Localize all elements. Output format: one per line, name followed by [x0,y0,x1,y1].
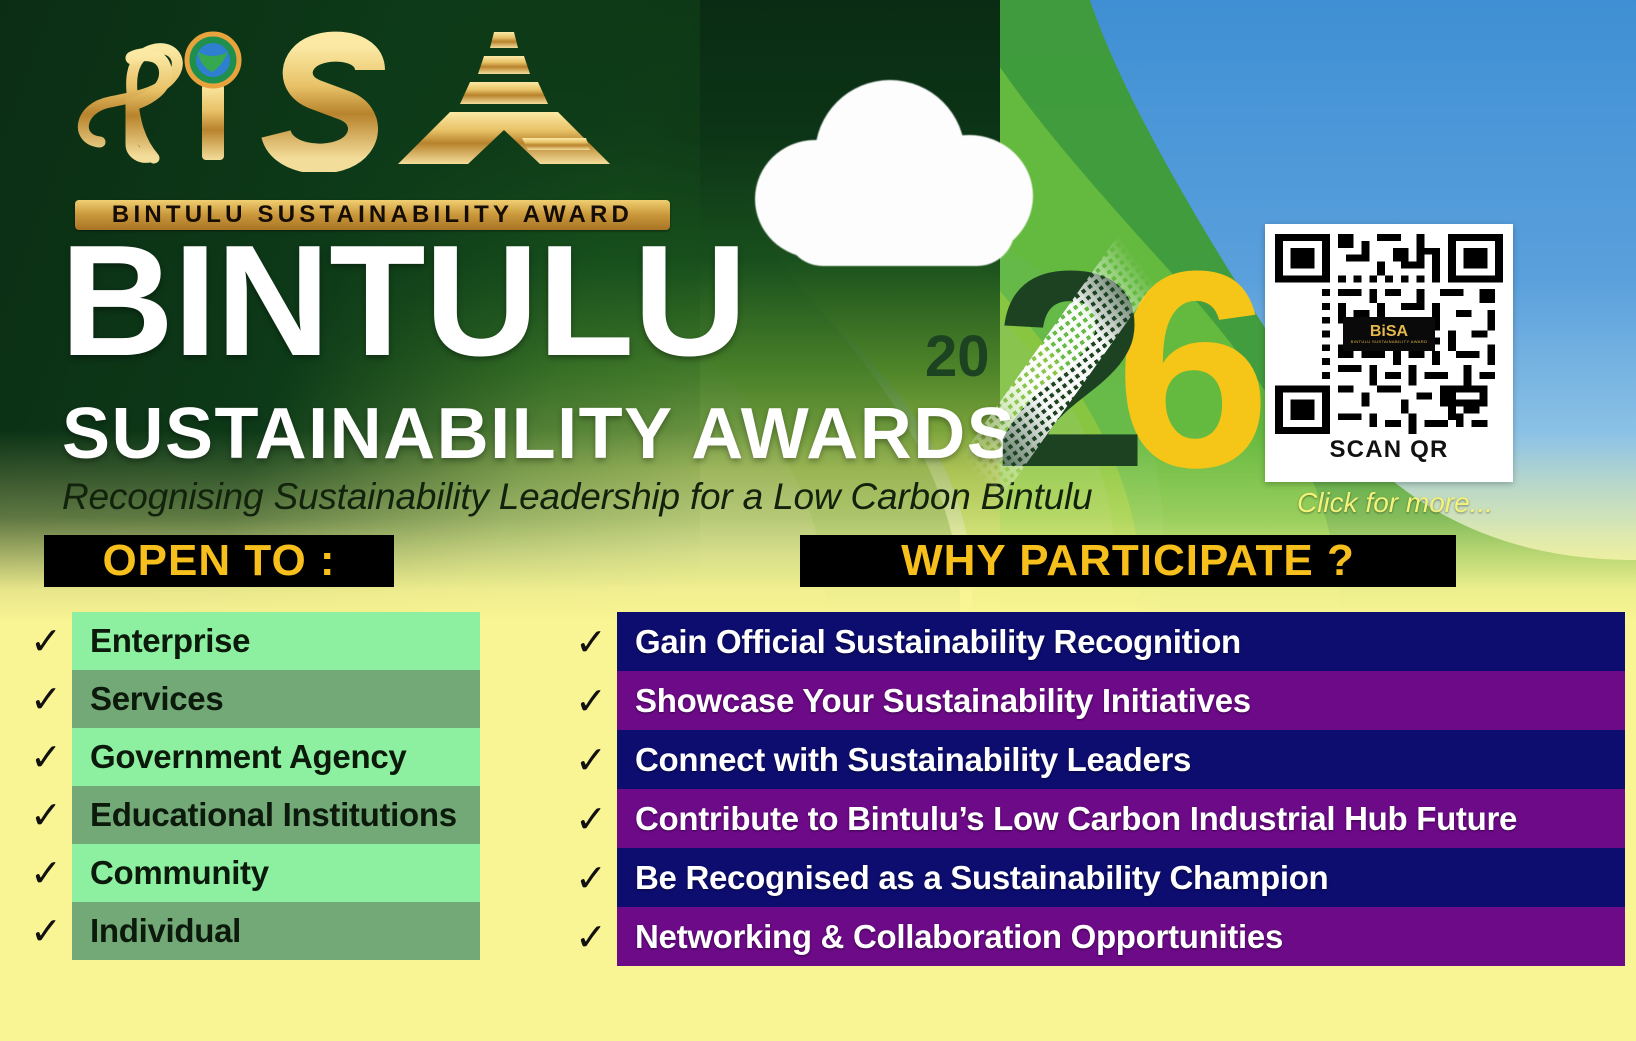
why-participate-header: WHY PARTICIPATE ? [800,535,1456,587]
list-item-label: Contribute to Bintulu’s Low Carbon Indus… [635,800,1517,838]
check-icon: ✓ [20,728,72,786]
page-subtitle: SUSTAINABILITY AWARDS [62,398,1016,470]
qr-code-image[interactable]: BiSA BINTULU SUSTAINABILITY AWARD [1275,234,1503,434]
why-participate-list: ✓ Gain Official Sustainability Recogniti… [565,612,1625,966]
qr-embedded-logo-sub: BINTULU SUSTAINABILITY AWARD [1351,339,1428,344]
list-item-label: Educational Institutions [90,796,457,834]
list-item[interactable]: ✓ Educational Institutions [20,786,480,844]
list-item[interactable]: ✓ Community [20,844,480,902]
qr-code-card[interactable]: BiSA BINTULU SUSTAINABILITY AWARD SCAN Q… [1265,224,1513,482]
list-item-label: Government Agency [90,738,406,776]
scan-qr-label: SCAN QR [1275,436,1503,464]
page-title: BINTULU [60,222,746,380]
check-icon: ✓ [565,612,617,671]
qr-embedded-logo-letters: BiSA [1370,324,1408,339]
qr-embedded-logo-icon: BiSA BINTULU SUSTAINABILITY AWARD [1343,317,1435,351]
list-item-label: Services [90,680,223,718]
list-item-label: Be Recognised as a Sustainability Champi… [635,859,1328,897]
list-item[interactable]: ✓ Showcase Your Sustainability Initiativ… [565,671,1625,730]
check-icon: ✓ [565,848,617,907]
bisa-logo-mark [70,22,670,172]
list-item[interactable]: ✓ Contribute to Bintulu’s Low Carbon Ind… [565,789,1625,848]
check-icon: ✓ [565,671,617,730]
check-icon: ✓ [20,786,72,844]
list-item[interactable]: ✓ Enterprise [20,612,480,670]
year-digit-2: 2 [993,230,1149,510]
check-icon: ✓ [565,789,617,848]
list-item[interactable]: ✓ Be Recognised as a Sustainability Cham… [565,848,1625,907]
check-icon: ✓ [565,730,617,789]
list-item[interactable]: ✓ Gain Official Sustainability Recogniti… [565,612,1625,671]
open-to-list: ✓ Enterprise ✓ Services ✓ Government Age… [20,612,480,960]
click-for-more-link[interactable]: Click for more... [1265,487,1525,519]
list-item-label: Showcase Your Sustainability Initiatives [635,682,1251,720]
list-item-label: Gain Official Sustainability Recognition [635,623,1241,661]
list-item-label: Community [90,854,269,892]
check-icon: ✓ [565,907,617,966]
list-item[interactable]: ✓ Government Agency [20,728,480,786]
check-icon: ✓ [20,844,72,902]
year-prefix-20: 20 [925,323,990,390]
poster-canvas: BINTULU SUSTAINABILITY AWARD BINTULU SUS… [0,0,1636,1041]
list-item[interactable]: ✓ Connect with Sustainability Leaders [565,730,1625,789]
list-item[interactable]: ✓ Services [20,670,480,728]
list-item[interactable]: ✓ Networking & Collaboration Opportuniti… [565,907,1625,966]
check-icon: ✓ [20,612,72,670]
bisa-logo: BINTULU SUSTAINABILITY AWARD [70,22,670,217]
open-to-header: OPEN TO : [44,535,394,587]
year-graphic: 6 2 20 [915,238,1215,518]
check-icon: ✓ [20,670,72,728]
list-item-label: Individual [90,912,241,950]
list-item-label: Enterprise [90,622,250,660]
check-icon: ✓ [20,902,72,960]
open-to-header-label: OPEN TO : [102,536,335,586]
list-item-label: Connect with Sustainability Leaders [635,741,1191,779]
why-participate-header-label: WHY PARTICIPATE ? [901,536,1355,586]
list-item[interactable]: ✓ Individual [20,902,480,960]
list-item-label: Networking & Collaboration Opportunities [635,918,1283,956]
